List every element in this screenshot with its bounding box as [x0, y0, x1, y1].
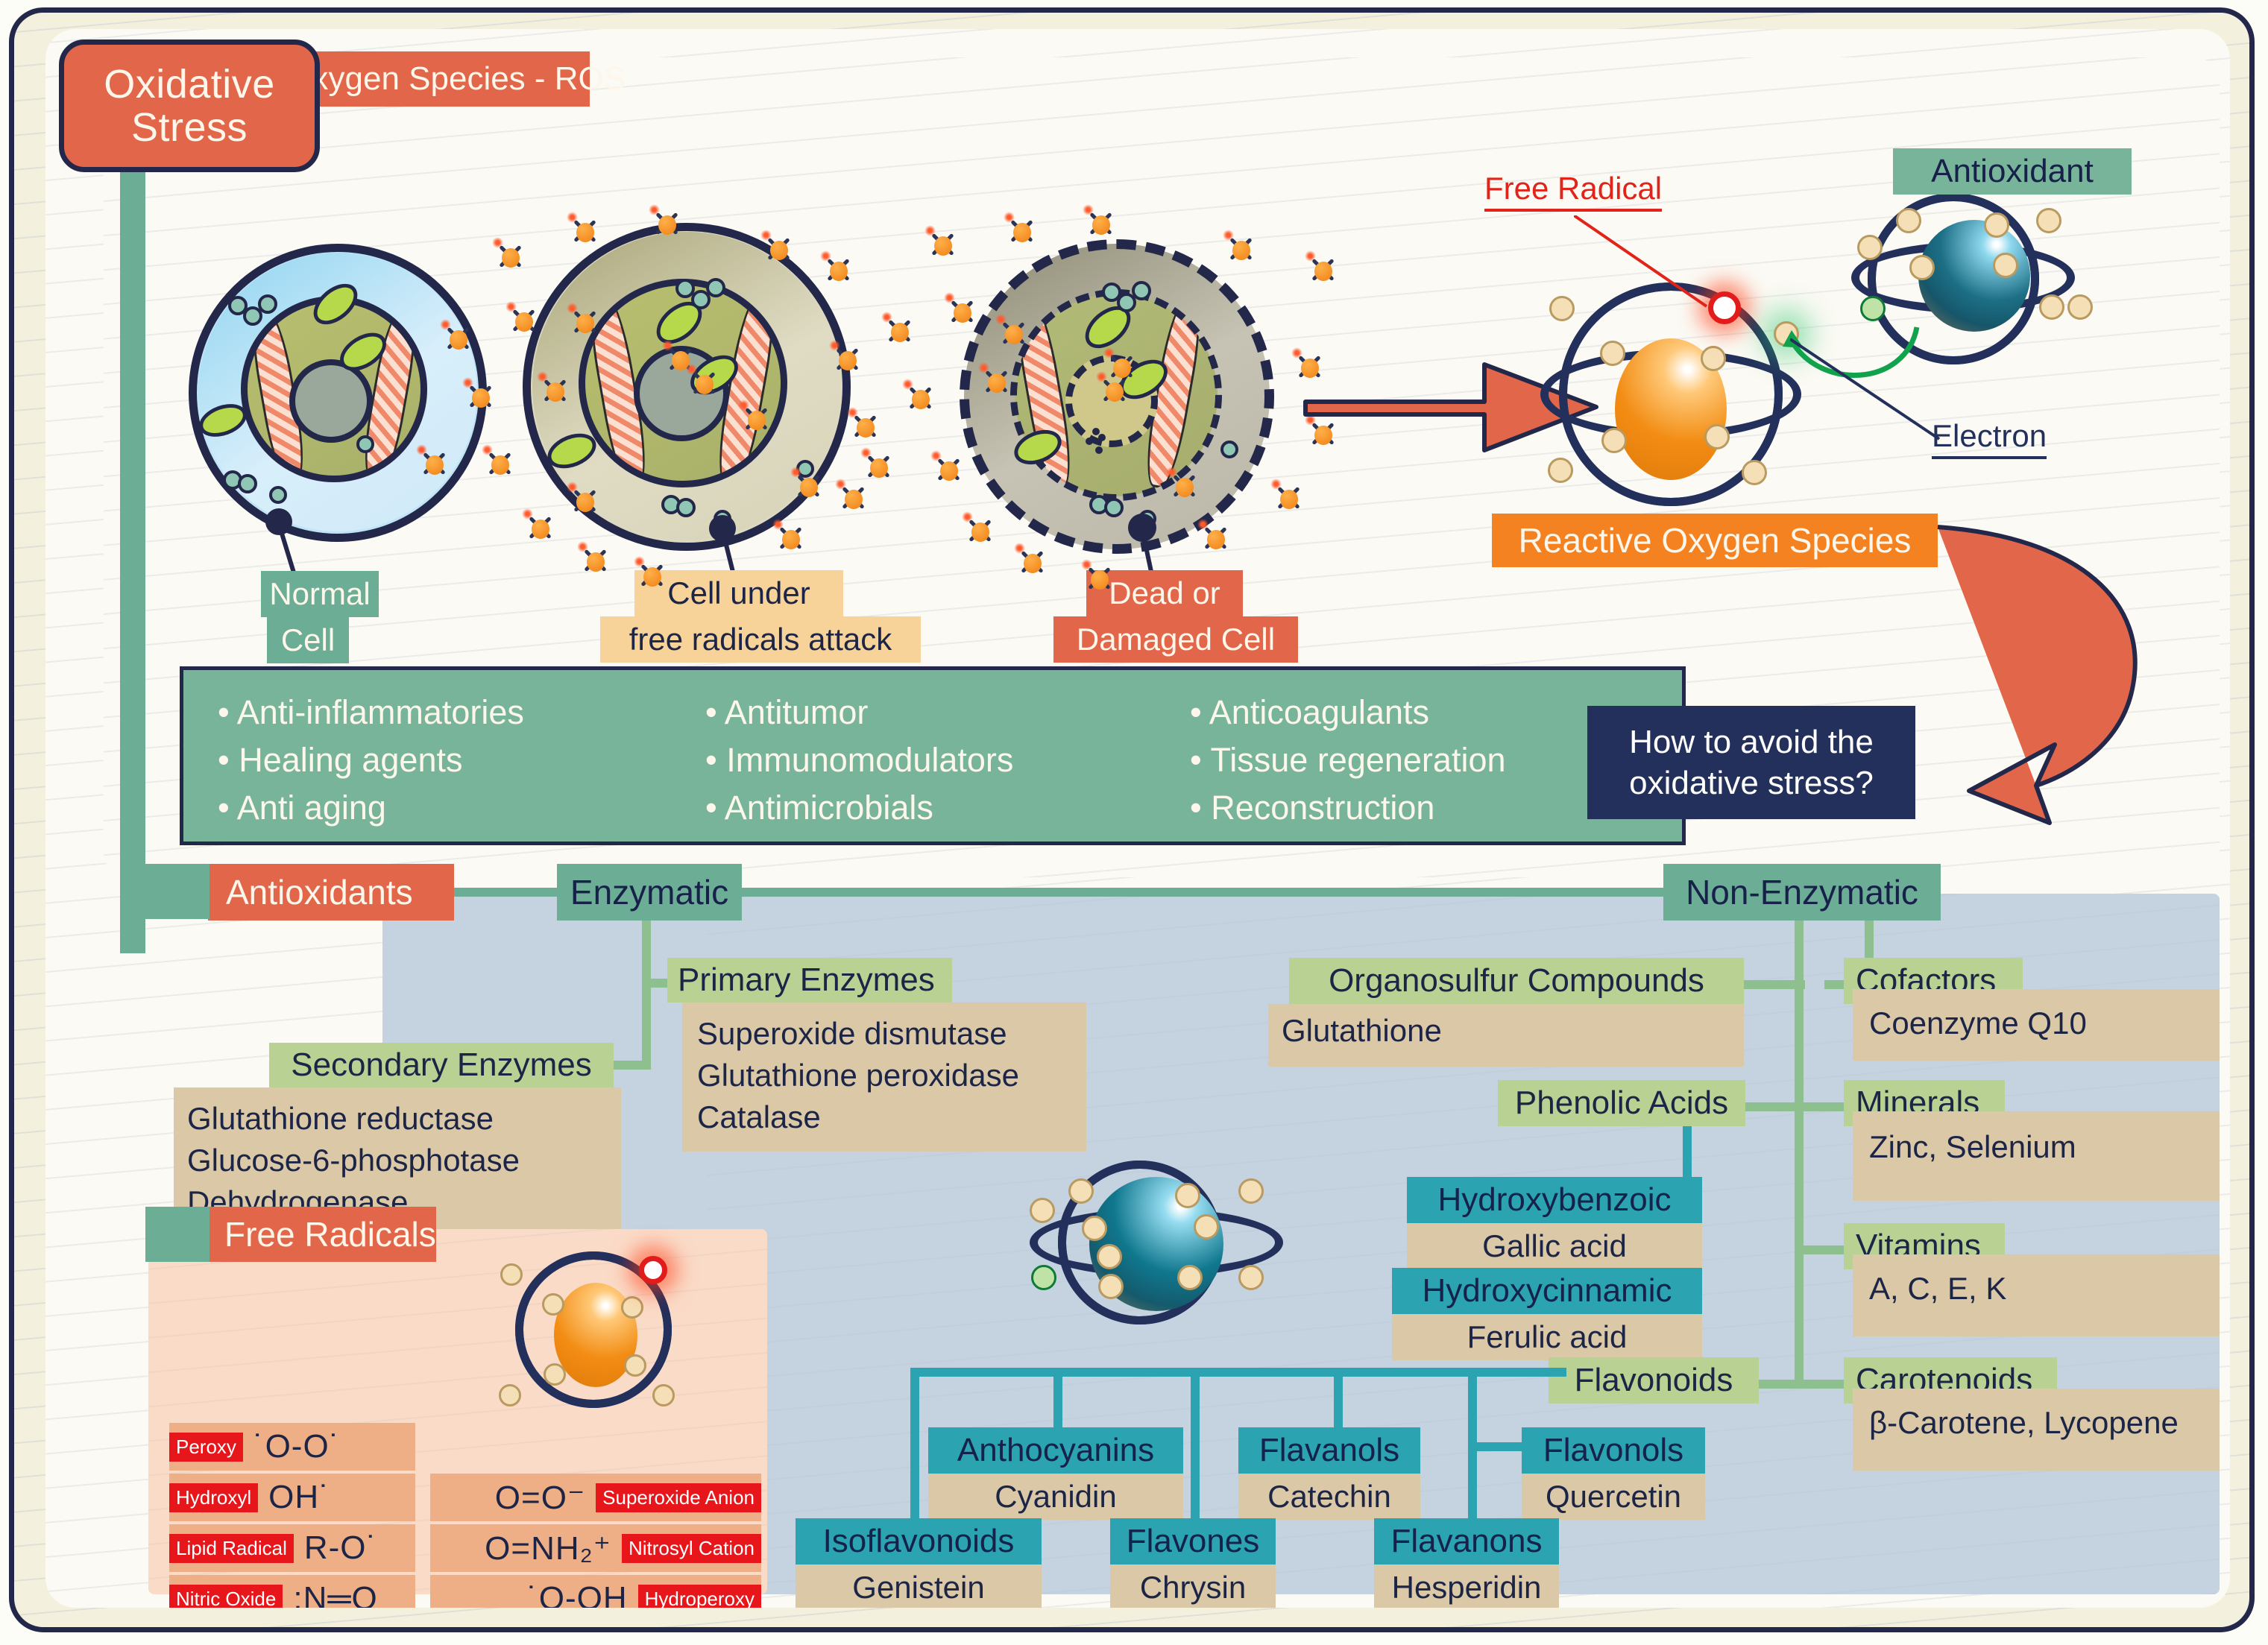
electron	[1549, 296, 1575, 321]
radical-formula: ˙O-OH	[517, 1580, 638, 1608]
page-title-line-1: Oxidative	[104, 63, 275, 106]
flavonols-item: Quercetin	[1522, 1474, 1705, 1520]
free-radicals-panel-atom	[493, 1251, 702, 1423]
radical-tag: Superoxide Anion	[596, 1483, 761, 1512]
benefit-item: • Antitumor	[705, 689, 1013, 736]
enzymatic-chip: Enzymatic	[557, 864, 742, 921]
secondary-enzymes-title: Secondary Enzymes	[269, 1043, 614, 1087]
electron	[652, 1384, 675, 1406]
vesicle	[1220, 441, 1238, 458]
electron	[1238, 1178, 1264, 1204]
benefit-item: • Reconstruction	[1190, 784, 1506, 832]
benefit-item: • Healing agents	[218, 736, 524, 784]
electron	[1701, 346, 1726, 371]
cell-label-normal-line1: Normal	[261, 571, 379, 617]
vesicle	[1104, 498, 1124, 517]
vesicle	[258, 294, 277, 314]
radical-tag: Peroxy	[169, 1433, 243, 1462]
page-title-line-2: Stress	[131, 106, 248, 149]
carotenoids-items: β-Carotene, Lycopene	[1853, 1389, 2220, 1471]
label-underline	[1932, 456, 2047, 459]
antioxidant-label: Antioxidant	[1893, 148, 2132, 195]
primary-enzymes-title: Primary Enzymes	[667, 958, 952, 1003]
electron	[1194, 1214, 1219, 1240]
electron	[1177, 1265, 1203, 1290]
hydroxycinnamic-item: Ferulic acid	[1392, 1314, 1702, 1360]
connector-flavones	[1191, 1368, 1200, 1544]
radical-tag: Hydroxyl	[169, 1483, 258, 1512]
carotenoid-item: β-Carotene, Lycopene	[1869, 1405, 2220, 1441]
free-radical-row: Nitric Oxide :N═O	[169, 1575, 415, 1608]
electron	[1238, 1265, 1264, 1290]
electron	[1704, 424, 1730, 449]
electron	[621, 1296, 643, 1319]
page-title: Oxidative Stress	[59, 40, 320, 172]
vitamins-items: A, C, E, K	[1853, 1254, 2220, 1336]
isoflavonoids-item: Genistein	[796, 1565, 1042, 1608]
flavanols-item: Catechin	[1238, 1474, 1420, 1520]
electron	[1993, 253, 2018, 278]
question-line-2: oxidative stress?	[1629, 762, 1874, 803]
hydroxycinnamic-title: Hydroxycinnamic	[1392, 1268, 1702, 1314]
cell-label-damaged-line2: Damaged Cell	[1053, 616, 1298, 663]
vitamin-item: A, C, E, K	[1869, 1271, 2220, 1307]
vesicle	[238, 474, 257, 493]
electron	[1896, 208, 1921, 233]
radical-formula: :N═O	[283, 1580, 388, 1608]
inner-panel: Reactive Oxygen Species - ROS Normal Cel…	[45, 29, 2230, 1608]
free-radical-row: Lipid Radical R-O˙	[169, 1524, 415, 1572]
electron	[1068, 1178, 1094, 1204]
vesicle	[1132, 281, 1151, 300]
electron	[1984, 212, 2009, 238]
flavones-item: Chrysin	[1110, 1565, 1276, 1608]
radical-tag: Nitric Oxide	[169, 1585, 283, 1608]
electron	[500, 1263, 523, 1286]
outer-frame: Reactive Oxygen Species - ROS Normal Cel…	[9, 7, 2255, 1632]
non-enzymatic-chip: Non-Enzymatic	[1663, 864, 1941, 921]
benefits-col-3: • Anticoagulants • Tissue regeneration •…	[1190, 689, 1506, 832]
flavonoids-title: Flavonoids	[1549, 1357, 1759, 1404]
electron	[1175, 1183, 1200, 1208]
benefits-col-2: • Antitumor • Immunomodulators • Antimic…	[705, 689, 1013, 832]
connector-organosulfur	[1736, 980, 1805, 989]
benefit-item: • Anti-inflammatories	[218, 689, 524, 736]
primary-enzymes-items: Superoxide dismutase Glutathione peroxid…	[682, 1003, 1086, 1152]
cell-label-attack-line2: free radicals attack	[600, 616, 921, 663]
free-radical-row: O=O⁻ Superoxide Anion	[430, 1474, 761, 1521]
electron	[1742, 460, 1767, 485]
electron	[1082, 1216, 1107, 1241]
flavonols-title: Flavonols	[1522, 1427, 1705, 1474]
cofactor-item: Coenzyme Q10	[1869, 1005, 2220, 1041]
radical-formula: O=NH₂⁺	[474, 1529, 622, 1567]
spine-tab-antioxidants	[145, 864, 210, 919]
radical-tag: Hydroperoxy	[638, 1585, 761, 1608]
electron	[1097, 1244, 1122, 1269]
label-underline	[1484, 209, 1662, 212]
free-radical-row: Peroxy ˙O-O˙	[169, 1423, 415, 1471]
vesicle	[356, 435, 374, 453]
mitochondrion-hidden3	[1098, 434, 1106, 441]
benefit-item: • Anti aging	[218, 784, 524, 832]
curved-arrow-to-question	[1924, 514, 2230, 827]
benefit-item: • Immunomodulators	[705, 736, 1013, 784]
mineral-item: Zinc, Selenium	[1869, 1129, 2220, 1165]
decorative-antioxidant-atom	[1015, 1169, 1313, 1319]
anthocyanins-item: Cyanidin	[928, 1474, 1183, 1520]
free-radicals-title: Free Radicals	[208, 1207, 436, 1262]
electron	[1030, 1198, 1055, 1223]
electron	[544, 1363, 566, 1386]
spine-connector	[120, 156, 145, 953]
antioxidants-root-chip: Antioxidants	[208, 864, 454, 921]
spine-tab-free-radicals	[145, 1207, 210, 1262]
connector-nonenzymatic-vertical	[1795, 921, 1804, 1383]
vesicle	[269, 486, 287, 504]
isoflavonoids-title: Isoflavonoids	[796, 1518, 1042, 1565]
radical-formula: O=O⁻	[485, 1479, 596, 1517]
connector-flavonoids	[1751, 1380, 1805, 1389]
connector-anthocyanins	[1053, 1368, 1062, 1427]
minerals-items: Zinc, Selenium	[1853, 1111, 2220, 1201]
mitochondrion-hidden2	[1086, 438, 1093, 445]
electron	[1857, 235, 1883, 260]
question-line-1: How to avoid the	[1629, 722, 1874, 762]
flavones-title: Flavones	[1110, 1518, 1276, 1565]
free-radical-row: O=NH₂⁺ Nitrosyl Cation	[430, 1524, 761, 1572]
benefit-item: • Tissue regeneration	[1190, 736, 1506, 784]
vesicle	[706, 278, 725, 297]
free-radical-label-group: Free Radical	[1484, 171, 1662, 212]
electron	[2036, 208, 2061, 233]
flavanons-item: Hesperidin	[1374, 1565, 1559, 1608]
question-box: How to avoid the oxidative stress?	[1587, 706, 1915, 819]
cell-label-normal-line2: Cell	[267, 617, 349, 663]
organosulfur-title: Organosulfur Compounds	[1289, 958, 1744, 1004]
donated-electron	[1031, 1265, 1056, 1290]
benefit-item: • Anticoagulants	[1190, 689, 1506, 736]
free-radical-label: Free Radical	[1484, 171, 1662, 206]
electron	[624, 1354, 646, 1377]
enzyme-item: Catalase	[697, 1096, 1086, 1138]
electron-leader-line	[1790, 335, 1954, 446]
electron	[542, 1293, 564, 1316]
electron	[1600, 341, 1625, 366]
radical-tag: Nitrosyl Cation	[622, 1534, 761, 1563]
electron	[1548, 458, 1573, 483]
radical-tag: Lipid Radical	[169, 1534, 294, 1563]
mitochondrion-hidden4	[1095, 446, 1103, 454]
enzyme-item: Glucose-6-phosphotase	[187, 1140, 621, 1181]
enzyme-item: Superoxide dismutase	[697, 1013, 1086, 1055]
atom-nucleus	[1918, 220, 2030, 332]
connector-phenolic-acids	[1736, 1102, 1805, 1111]
connector-enzymatic-vertical	[642, 921, 651, 1070]
electron	[1601, 428, 1627, 453]
free-radical-leader-line	[1574, 215, 1723, 312]
missing-electron-hole	[639, 1256, 667, 1284]
nucleolus	[289, 359, 373, 443]
radical-formula: ˙O-O˙	[243, 1428, 351, 1465]
organosulfur-items: Glutathione	[1268, 1004, 1744, 1067]
vesicle	[676, 498, 696, 517]
free-radical-row: Hydroxyl OH˙	[169, 1474, 415, 1521]
electron	[1909, 255, 1935, 280]
reactive-oxygen-species-label: Reactive Oxygen Species	[1492, 514, 1938, 567]
hydroxybenzoic-item: Gallic acid	[1407, 1223, 1702, 1269]
phenolic-acids-title: Phenolic Acids	[1498, 1080, 1745, 1126]
electron	[499, 1384, 521, 1406]
benefits-box: • Anti-inflammatories • Healing agents •…	[180, 666, 1686, 845]
radical-formula: R-O˙	[294, 1529, 388, 1567]
enzyme-item: Glutathione reductase	[187, 1098, 621, 1140]
flavanons-title: Flavanons	[1374, 1518, 1559, 1565]
electron	[1098, 1274, 1124, 1299]
benefit-item: • Antimicrobials	[705, 784, 1013, 832]
anthocyanins-title: Anthocyanins	[928, 1427, 1183, 1474]
electron	[2067, 294, 2093, 320]
connector-isoflavonoids	[910, 1368, 919, 1542]
organosulfur-item: Glutathione	[1282, 1013, 1744, 1049]
free-radical-row: ˙O-OH Hydroperoxy	[430, 1575, 761, 1608]
connector-flavanons	[1468, 1368, 1477, 1544]
flavanols-title: Flavanols	[1238, 1427, 1420, 1474]
cofactors-items: Coenzyme Q10	[1853, 989, 2220, 1061]
diagram-canvas: Reactive Oxygen Species - ROS Normal Cel…	[0, 0, 2268, 1645]
enzyme-item: Glutathione peroxidase	[697, 1055, 1086, 1096]
connector-flavanols	[1334, 1368, 1343, 1427]
radical-formula: OH˙	[258, 1479, 341, 1516]
electron	[2039, 294, 2064, 320]
benefits-col-1: • Anti-inflammatories • Healing agents •…	[218, 689, 524, 832]
hydroxybenzoic-title: Hydroxybenzoic	[1407, 1177, 1702, 1223]
